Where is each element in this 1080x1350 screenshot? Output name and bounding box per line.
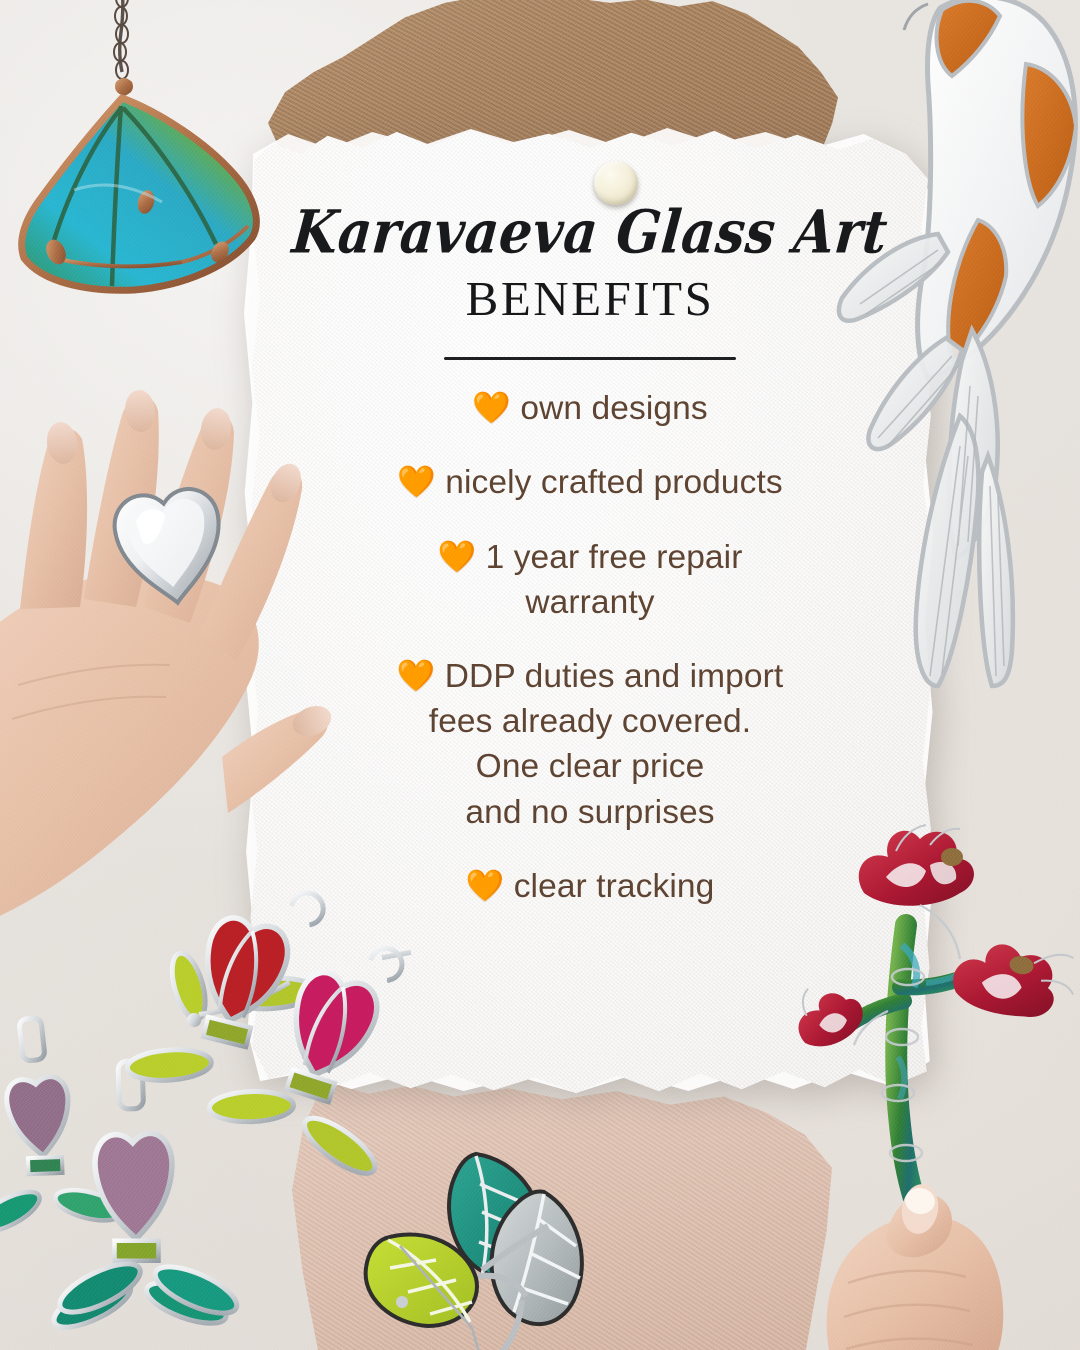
orange-heart-icon: 🧡 (438, 539, 477, 574)
benefit-text: own designs (520, 390, 707, 427)
benefit-text: 1 year free repair (486, 539, 743, 576)
orange-heart-icon: 🧡 (472, 390, 511, 425)
list-item: 🧡 own designs (300, 386, 880, 431)
benefit-text-line3: One clear price (300, 744, 880, 789)
brand-title: Karavaeva Glass Art (282, 201, 898, 264)
page-title: BENEFITS (285, 274, 895, 323)
promo-graphic-canvas: Karavaeva Glass Art BENEFITS 🧡 own desig… (0, 0, 1080, 1350)
divider-rule (444, 357, 736, 360)
list-item: 🧡 nicely crafted products (300, 460, 880, 505)
flower-earrings (0, 900, 450, 1350)
benefit-text-line2: fees already covered. (300, 699, 880, 744)
orange-heart-icon: 🧡 (466, 868, 505, 903)
benefit-text-line2: warranty (300, 580, 880, 625)
benefit-text: clear tracking (514, 868, 715, 905)
glass-bloom-top (859, 825, 974, 906)
benefit-text: nicely crafted products (445, 464, 782, 501)
hand-with-glass-flower (770, 805, 1080, 1350)
list-item: 🧡 1 year free repair warranty (300, 535, 880, 625)
earring-teal-stem (53, 1230, 242, 1346)
divider (285, 357, 895, 360)
koi-fish-suncatcher (820, 0, 1080, 686)
hand-with-heart-ring (0, 385, 380, 945)
benefit-text: DDP duties and import (445, 658, 784, 695)
paper-pin (594, 161, 638, 205)
orange-heart-icon: 🧡 (397, 658, 436, 693)
ginkgo-leaf-pendant (0, 0, 294, 320)
orange-heart-icon: 🧡 (397, 464, 436, 499)
glass-bloom-right (949, 937, 1080, 1026)
